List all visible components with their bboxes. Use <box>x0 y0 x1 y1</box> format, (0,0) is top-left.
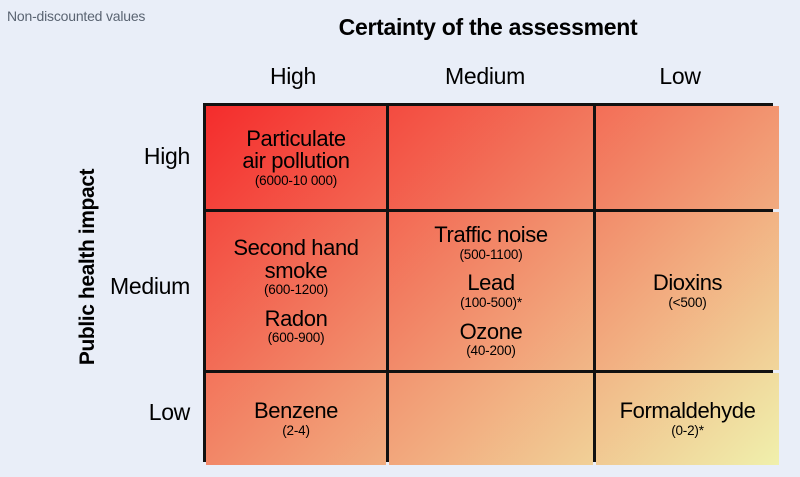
matrix-cell-low-high: Benzene(2-4) <box>206 373 386 465</box>
matrix-entry-name: Benzene <box>254 400 338 422</box>
matrix-entry-name: Dioxins <box>653 272 722 294</box>
matrix-cell-medium-medium: Traffic noise(500-1100)Lead(100-500)*Ozo… <box>389 212 593 370</box>
matrix-entry: Lead(100-500)* <box>460 272 522 309</box>
matrix-entry-range: (100-500)* <box>460 296 522 310</box>
matrix-entry-range: (600-900) <box>265 331 328 345</box>
matrix-entry: Second hand smoke(600-1200) <box>233 237 358 297</box>
matrix-entry-name: Radon <box>265 308 328 330</box>
risk-matrix-grid: Particulate air pollution(6000-10 000)Se… <box>203 103 773 462</box>
column-header-high: High <box>203 59 383 93</box>
matrix-cell-high-low <box>596 106 779 209</box>
matrix-entry-range: (600-1200) <box>233 283 358 297</box>
x-axis-title: Certainty of the assessment <box>203 14 773 41</box>
matrix-entry-range: (<500) <box>653 296 722 310</box>
row-header-medium: Medium <box>110 273 190 300</box>
matrix-cell-low-low: Formaldehyde(0-2)* <box>596 373 779 465</box>
matrix-entry-range: (0-2)* <box>620 424 756 438</box>
matrix-cell-high-medium <box>389 106 593 209</box>
matrix-entry-range: (2-4) <box>254 424 338 438</box>
matrix-cell-high-high: Particulate air pollution(6000-10 000) <box>206 106 386 209</box>
matrix-entry: Radon(600-900) <box>265 308 328 345</box>
matrix-entry-range: (6000-10 000) <box>242 174 349 188</box>
matrix-cell-low-medium <box>389 373 593 465</box>
matrix-entry-name: Particulate air pollution <box>242 128 349 173</box>
column-header-medium: Medium <box>383 59 587 93</box>
matrix-entry-range: (500-1100) <box>434 248 547 262</box>
matrix-entry: Dioxins(<500) <box>653 272 722 309</box>
matrix-cell-medium-high: Second hand smoke(600-1200)Radon(600-900… <box>206 212 386 370</box>
row-header-high: High <box>144 143 190 170</box>
row-header-low: Low <box>149 399 190 426</box>
matrix-entry: Particulate air pollution(6000-10 000) <box>242 128 349 188</box>
matrix-entry-name: Lead <box>460 272 522 294</box>
matrix-entry: Formaldehyde(0-2)* <box>620 400 756 437</box>
matrix-entry-name: Formaldehyde <box>620 400 756 422</box>
legend-caption: Non-discounted values <box>7 8 145 24</box>
matrix-entry-name: Traffic noise <box>434 224 547 246</box>
column-header-low: Low <box>587 59 773 93</box>
matrix-entry: Traffic noise(500-1100) <box>434 224 547 261</box>
matrix-entry-range: (40-200) <box>460 344 523 358</box>
column-headers: High Medium Low <box>203 59 773 93</box>
matrix-entry-name: Ozone <box>460 321 523 343</box>
matrix-entry: Ozone(40-200) <box>460 321 523 358</box>
row-headers: High Medium Low <box>40 103 200 462</box>
matrix-entry-name: Second hand smoke <box>233 237 358 282</box>
matrix-entry: Benzene(2-4) <box>254 400 338 437</box>
chart-canvas: Non-discounted values Certainty of the a… <box>0 0 800 477</box>
matrix-cell-medium-low: Dioxins(<500) <box>596 212 779 370</box>
